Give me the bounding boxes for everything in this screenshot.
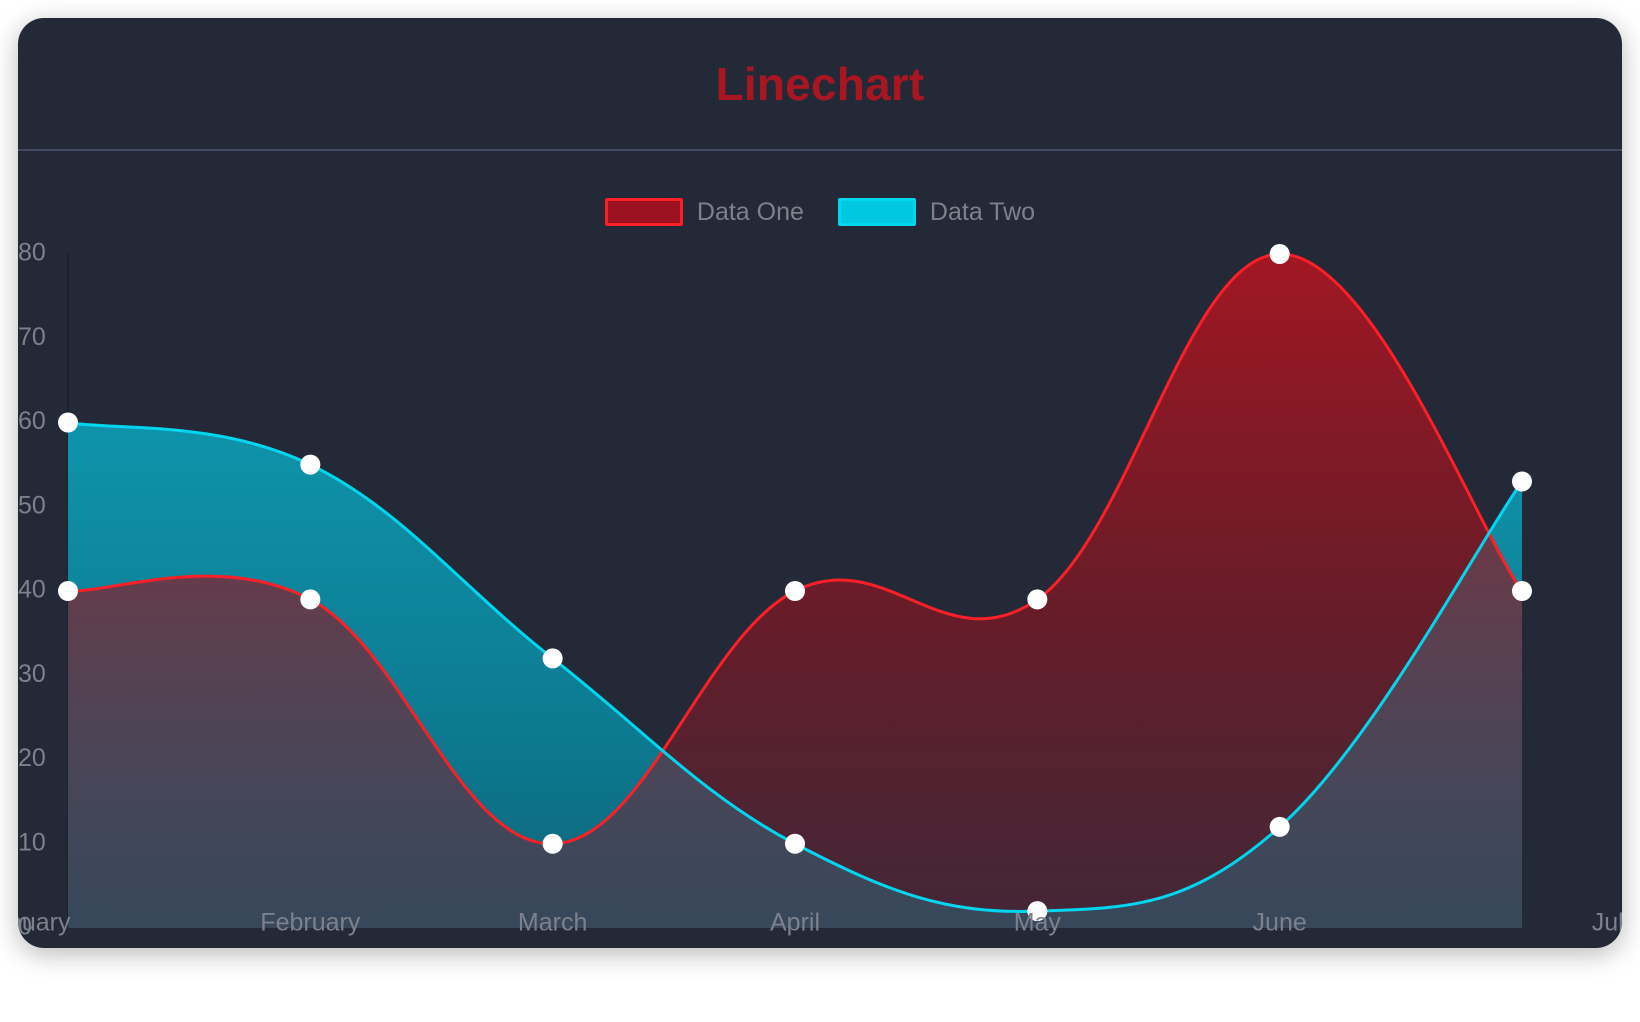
data-point[interactable] — [58, 413, 78, 433]
y-axis-tick-label: 20 — [18, 744, 46, 772]
x-axis-tick-label: July — [1592, 909, 1622, 937]
y-axis-tick-label: 80 — [18, 239, 46, 267]
data-point[interactable] — [300, 455, 320, 475]
data-point[interactable] — [785, 834, 805, 854]
y-axis-tick-label: 10 — [18, 828, 46, 856]
x-axis-tick-label: May — [1014, 909, 1062, 937]
screen-root: { "card": { "title": "Linechart", "backg… — [0, 0, 1640, 1022]
y-axis-tick-label: 50 — [18, 491, 46, 519]
y-axis-ticks: 01020304050607080 — [18, 239, 46, 941]
data-point[interactable] — [1512, 471, 1532, 491]
data-point[interactable] — [1027, 589, 1047, 609]
data-point[interactable] — [1270, 244, 1290, 264]
data-point[interactable] — [58, 581, 78, 601]
x-axis-tick-label: February — [260, 909, 361, 937]
x-axis-tick-label: March — [518, 909, 587, 937]
data-point[interactable] — [1512, 581, 1532, 601]
data-point[interactable] — [785, 581, 805, 601]
chart-card: Linechart Data One Data Two — [18, 18, 1622, 948]
data-point[interactable] — [300, 589, 320, 609]
line-chart-plot[interactable]: 01020304050607080 JanuaryFebruaryMarchAp… — [18, 18, 1622, 948]
data-point[interactable] — [1270, 817, 1290, 837]
y-axis-tick-label: 40 — [18, 576, 46, 604]
y-axis-tick-label: 60 — [18, 407, 46, 435]
x-axis-tick-label: April — [770, 909, 820, 937]
x-axis-tick-label: January — [18, 909, 71, 937]
x-axis-tick-label: June — [1253, 909, 1307, 937]
data-point[interactable] — [543, 834, 563, 854]
y-axis-tick-label: 30 — [18, 660, 46, 688]
y-axis-tick-label: 70 — [18, 323, 46, 351]
data-point[interactable] — [543, 648, 563, 668]
